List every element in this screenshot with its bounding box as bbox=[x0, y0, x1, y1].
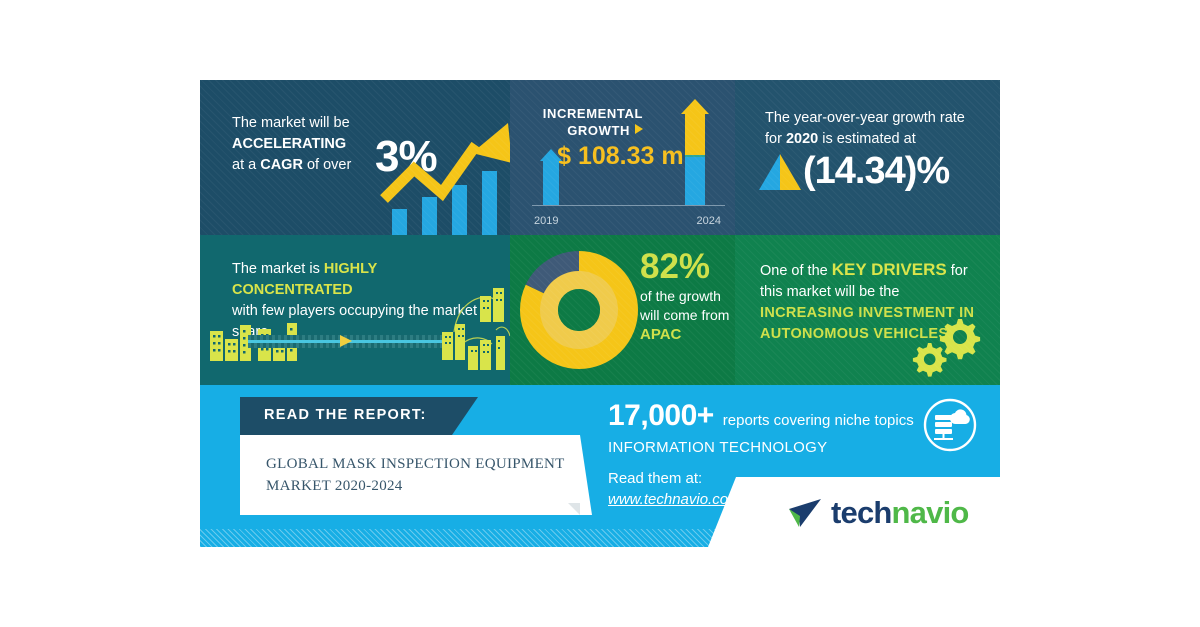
infographic: The market will be ACCELERATING at a CAG… bbox=[200, 80, 1000, 547]
cloud-server-icon bbox=[922, 397, 978, 453]
yoy-line2-bold: 2020 bbox=[786, 131, 818, 147]
reports-count: 17,000+ bbox=[608, 399, 714, 433]
yoy-statement: The year-over-year growth rate for 2020 … bbox=[765, 108, 980, 150]
technavio-logo: technavio bbox=[788, 495, 969, 531]
bottom-hatch-strip bbox=[200, 529, 1000, 547]
drv-line1-pre: One of the bbox=[760, 263, 832, 279]
panel-cagr: The market will be ACCELERATING at a CAG… bbox=[200, 80, 510, 235]
donut-svg bbox=[520, 251, 638, 369]
apac-sub-line1: of the growth bbox=[640, 287, 735, 306]
report-card-corner bbox=[568, 503, 580, 515]
cagr-line2-pre: at a bbox=[232, 157, 260, 173]
read-tab-notch bbox=[452, 397, 478, 435]
incremental-title-line1: INCREMENTAL bbox=[543, 106, 643, 121]
year-label-2024: 2024 bbox=[697, 215, 721, 227]
track-arrow-icon bbox=[340, 335, 352, 347]
cagr-line1-bold: ACCELERATING bbox=[232, 136, 346, 152]
read-the-report-label: READ THE REPORT: bbox=[264, 407, 427, 423]
panel-apac-share: 82% of the growth will come from APAC bbox=[510, 235, 735, 385]
report-title-line2: MARKET 2020-2024 bbox=[266, 478, 403, 494]
report-title-line1: GLOBAL MASK INSPECTION EQUIPMENT bbox=[266, 456, 565, 472]
panel-bottom-band: READ THE REPORT: GLOBAL MASK INSPECTION … bbox=[200, 385, 1000, 547]
yoy-line1: The year-over-year growth rate bbox=[765, 110, 965, 126]
cagr-line2-bold: CAGR bbox=[260, 157, 303, 173]
apac-region: APAC bbox=[640, 326, 735, 343]
infographic-canvas: The market will be ACCELERATING at a CAG… bbox=[0, 0, 1200, 627]
apac-donut-chart bbox=[520, 251, 638, 369]
yoy-line2-pre: for bbox=[765, 131, 786, 147]
gears-icon bbox=[912, 315, 982, 377]
conc-line1-pre: The market is bbox=[232, 261, 324, 277]
drv-line1-post: for bbox=[947, 263, 968, 279]
donut-hole bbox=[558, 289, 600, 331]
read-the-report-tab: READ THE REPORT: bbox=[240, 397, 452, 435]
report-title-card[interactable]: GLOBAL MASK INSPECTION EQUIPMENT MARKET … bbox=[240, 435, 580, 515]
yoy-value-row: (14.34)% bbox=[757, 150, 949, 193]
drv-line2: this market will be the bbox=[760, 284, 899, 300]
yoy-value: (14.34)% bbox=[803, 150, 949, 193]
bar-2024 bbox=[681, 99, 709, 205]
report-title: GLOBAL MASK INSPECTION EQUIPMENT MARKET … bbox=[266, 453, 566, 497]
reports-caption: reports covering niche topics bbox=[723, 412, 914, 429]
growth-arrow-icon bbox=[380, 115, 510, 225]
report-card-fold bbox=[580, 435, 592, 515]
apac-statement: 82% of the growth will come from APAC bbox=[640, 249, 735, 343]
yoy-line2-post: is estimated at bbox=[818, 131, 916, 147]
technavio-logo-mark-icon bbox=[788, 498, 822, 528]
panel-incremental-growth: INCREMENTAL GROWTH $ 108.33 mn 2019 2024 bbox=[510, 80, 735, 235]
panel-yoy-growth: The year-over-year growth rate for 2020 … bbox=[735, 80, 1000, 235]
panel-market-concentration: The market is HIGHLY CONCENTRATED with f… bbox=[200, 235, 510, 385]
logo-text-tech: tech bbox=[831, 495, 892, 531]
incremental-axis bbox=[532, 205, 725, 206]
incremental-growth-title: INCREMENTAL GROWTH bbox=[543, 105, 643, 139]
cagr-line1-pre: The market will be bbox=[232, 115, 350, 131]
apac-sub-line2: will come from bbox=[640, 306, 735, 325]
report-category: INFORMATION TECHNOLOGY bbox=[608, 439, 938, 456]
triangle-up-icon bbox=[757, 152, 803, 192]
logo-text-navio: navio bbox=[892, 495, 969, 531]
panel-key-drivers: One of the KEY DRIVERS for this market w… bbox=[735, 235, 1000, 385]
stat-headline: 17,000+ reports covering niche topics bbox=[608, 399, 938, 433]
cagr-line2-post: of over bbox=[303, 157, 351, 173]
bar-2019 bbox=[540, 149, 562, 205]
year-label-2019: 2019 bbox=[534, 215, 558, 227]
city-cluster-right-icon bbox=[440, 280, 510, 375]
play-triangle-icon bbox=[635, 124, 643, 134]
incremental-title-line2: GROWTH bbox=[567, 123, 630, 138]
drv-line1-bold: KEY DRIVERS bbox=[832, 260, 947, 279]
apac-value: 82% bbox=[640, 249, 735, 285]
